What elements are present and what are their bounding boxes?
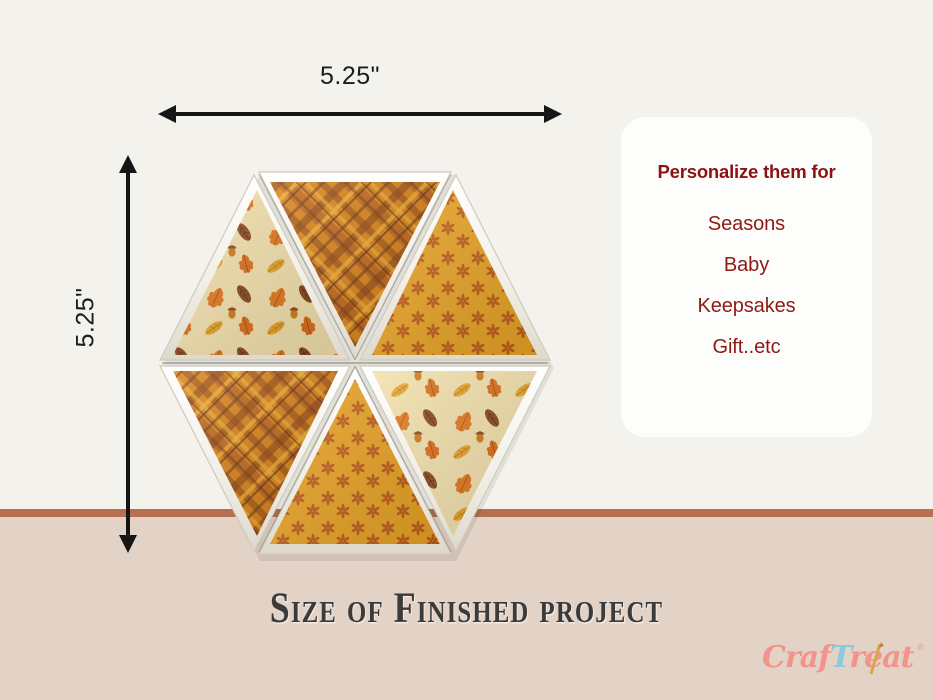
logo-part-reat: reat (849, 640, 913, 675)
card-item-gift: Gift..etc (712, 336, 780, 359)
craftreat-logo: CrafTreat ® (762, 640, 922, 688)
hexagon-product-photo (140, 160, 570, 566)
page-title: Size of Finished project (37, 583, 895, 633)
width-dimension-arrow (158, 100, 562, 128)
personalization-card: Personalize them for Seasons Baby Keepsa… (621, 117, 872, 437)
logo-registered-mark: ® (917, 642, 924, 652)
logo-part-t: T (830, 640, 849, 675)
poster-canvas: 5.25" 5.25" Personalize them for Seasons… (0, 0, 933, 700)
card-heading: Personalize them for (658, 161, 836, 183)
arrow-head-left (158, 105, 176, 123)
logo-wordmark: CrafTreat (762, 640, 913, 675)
arrow-head-down (119, 535, 137, 553)
arrow-head-up (119, 155, 137, 173)
card-item-baby: Baby (724, 254, 769, 277)
card-item-seasons: Seasons (708, 213, 785, 236)
height-dimension-label: 5.25" (72, 258, 101, 378)
card-item-keepsakes: Keepsakes (697, 295, 795, 318)
arrow-head-right (544, 105, 562, 123)
hexagon-svg (140, 160, 570, 566)
width-dimension-label: 5.25" (240, 62, 460, 91)
logo-part-craf: Craf (762, 640, 830, 675)
height-dimension-arrow (113, 155, 143, 553)
